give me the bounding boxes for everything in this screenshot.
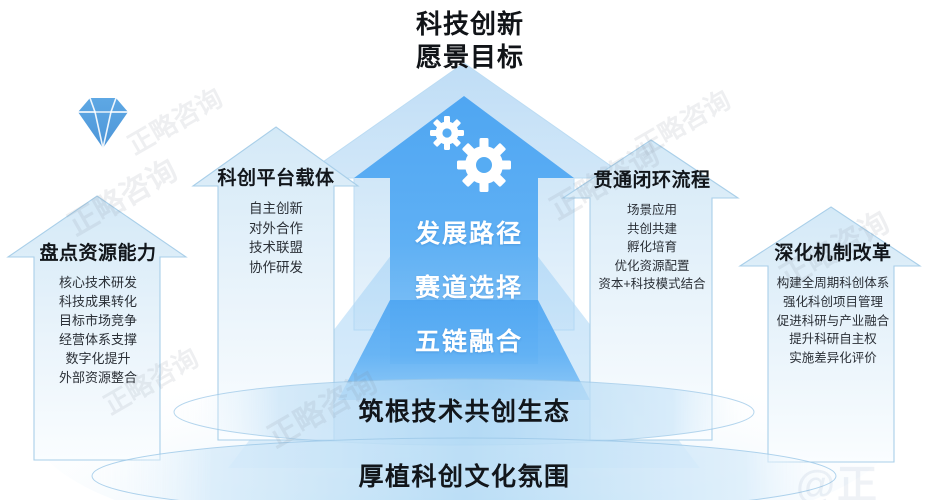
pillar-4[interactable]: 深化机制改革 构建全周期科创体系 强化科创项目管理 促进科研与产业融合 提升科研…	[744, 238, 922, 368]
diamond-gem-icon	[78, 98, 128, 148]
core-line-3: 五链融合	[378, 322, 560, 358]
pillar-1-item: 目标市场竞争	[6, 312, 190, 331]
vision-title-line-2: 愿景目标	[330, 41, 610, 74]
pillar-4-item: 强化科创项目管理	[744, 293, 922, 312]
pillar-3-title: 贯通闭环流程	[566, 165, 738, 192]
pillar-1-title: 盘点资源能力	[6, 238, 190, 265]
pillar-1-item: 核心技术研发	[6, 274, 190, 293]
vision-title-line-1: 科技创新	[330, 8, 610, 41]
pillar-4-item: 实施差异化评价	[744, 349, 922, 368]
core-line-2: 赛道选择	[378, 268, 560, 304]
pillar-2-item: 协作研发	[196, 258, 356, 278]
pillar-1-items: 核心技术研发 科技成果转化 目标市场竞争 经营体系支撑 数字化提升 外部资源整合	[6, 274, 190, 388]
foundation-band-1-label: 筑根技术共创生态	[0, 392, 929, 428]
pillar-3-item: 场景应用	[566, 201, 738, 220]
foundation-band-2-label: 厚植科创文化氛围	[0, 457, 929, 493]
pillar-3-item: 优化资源配置	[566, 257, 738, 276]
pillar-2-item: 对外合作	[196, 219, 356, 239]
pillar-4-items: 构建全周期科创体系 强化科创项目管理 促进科研与产业融合 提升科研自主权 实施差…	[744, 274, 922, 368]
diagram-canvas: 正略咨询 正略咨询 正略咨询 正略咨询 正略咨询 正略咨询 正略咨询 @正 科技…	[0, 0, 929, 500]
pillar-1-item: 数字化提升	[6, 350, 190, 369]
pillar-2-item: 自主创新	[196, 199, 356, 219]
vision-title: 科技创新 愿景目标	[330, 8, 610, 75]
pillar-3-item: 孵化培育	[566, 238, 738, 257]
pillar-1-item: 科技成果转化	[6, 293, 190, 312]
pillar-3-items: 场景应用 共创共建 孵化培育 优化资源配置 资本+科技模式结合	[566, 201, 738, 294]
pillar-2-item: 技术联盟	[196, 238, 356, 258]
pillar-3[interactable]: 贯通闭环流程 场景应用 共创共建 孵化培育 优化资源配置 资本+科技模式结合	[566, 165, 738, 294]
pillar-2[interactable]: 科创平台载体 自主创新 对外合作 技术联盟 协作研发	[196, 163, 356, 278]
pillar-4-item: 促进科研与产业融合	[744, 312, 922, 331]
pillar-1[interactable]: 盘点资源能力 核心技术研发 科技成果转化 目标市场竞争 经营体系支撑 数字化提升…	[6, 238, 190, 388]
pillar-4-item: 提升科研自主权	[744, 330, 922, 349]
pillar-2-items: 自主创新 对外合作 技术联盟 协作研发	[196, 199, 356, 278]
pillar-4-item: 构建全周期科创体系	[744, 274, 922, 293]
core-line-1: 发展路径	[378, 214, 560, 250]
pillar-4-title: 深化机制改革	[744, 238, 922, 265]
pillar-3-item: 共创共建	[566, 220, 738, 239]
pillar-3-item: 资本+科技模式结合	[566, 275, 738, 294]
pillar-1-item: 外部资源整合	[6, 369, 190, 388]
pillar-2-title: 科创平台载体	[196, 163, 356, 190]
pillar-1-item: 经营体系支撑	[6, 331, 190, 350]
